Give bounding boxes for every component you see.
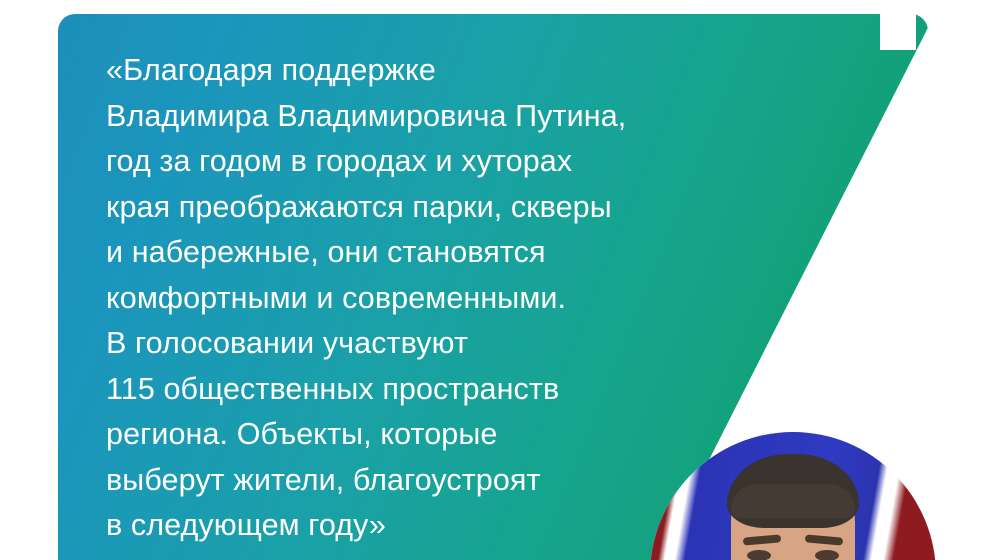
person-photo <box>650 432 936 560</box>
person-hair <box>727 454 859 528</box>
person-eye-right <box>815 550 839 560</box>
quote-text: «Благодаря поддержке Владимира Владимиро… <box>106 48 726 549</box>
person-eye-left <box>747 550 771 560</box>
quote-card: «Благодаря поддержке Владимира Владимиро… <box>0 0 992 560</box>
portrait-avatar <box>650 432 936 560</box>
